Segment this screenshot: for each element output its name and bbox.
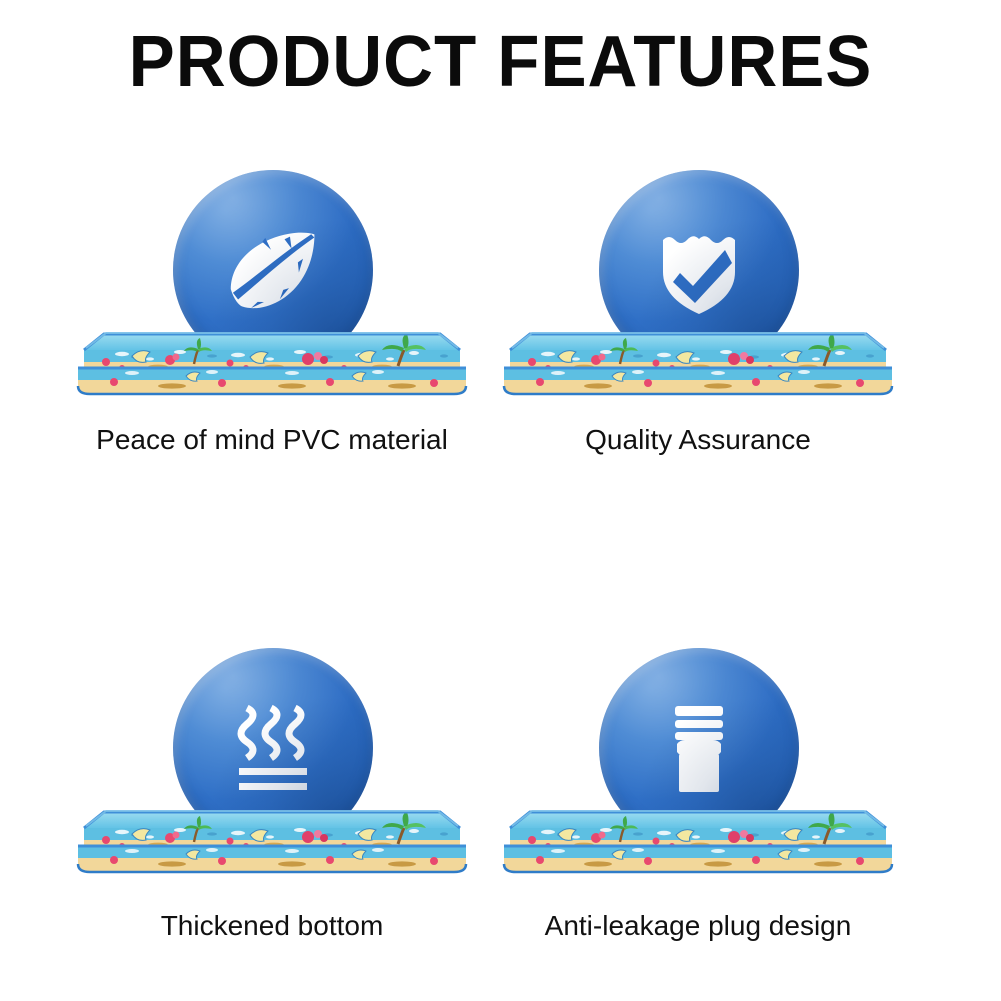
- feature-caption: Peace of mind PVC material: [62, 424, 482, 456]
- inflatable-pool-graphic: [62, 798, 482, 878]
- feature-caption: Anti-leakage plug design: [488, 910, 908, 942]
- feature-caption: Thickened bottom: [62, 910, 482, 942]
- feature-card-pvc-material: Peace of mind PVC material: [62, 150, 482, 510]
- feature-illustration: [62, 150, 482, 400]
- shield-check-icon: [639, 210, 759, 330]
- feature-card-anti-leakage-plug: Anti-leakage plug design: [488, 628, 908, 988]
- feature-caption: Quality Assurance: [488, 424, 908, 456]
- pool-svg: [62, 320, 482, 400]
- features-grid: Peace of mind PVC material: [0, 150, 1001, 990]
- page-title: PRODUCT FEATURES: [20, 22, 981, 103]
- pool-svg: [488, 320, 908, 400]
- feature-illustration: [488, 150, 908, 400]
- inflatable-pool-graphic: [488, 320, 908, 400]
- inflatable-pool-graphic: [488, 798, 908, 878]
- leaf-icon: [213, 210, 333, 330]
- feature-illustration: [62, 628, 482, 878]
- inflatable-pool-graphic: [62, 320, 482, 400]
- feature-card-thickened-bottom: Thickened bottom: [62, 628, 482, 988]
- pool-svg: [488, 798, 908, 878]
- feature-card-quality-assurance: Quality Assurance: [488, 150, 908, 510]
- feature-illustration: [488, 628, 908, 878]
- pool-svg: [62, 798, 482, 878]
- product-features-page: PRODUCT FEATURES: [0, 0, 1001, 1001]
- heat-waves-icon: [213, 688, 333, 808]
- plug-bottle-icon: [639, 688, 759, 808]
